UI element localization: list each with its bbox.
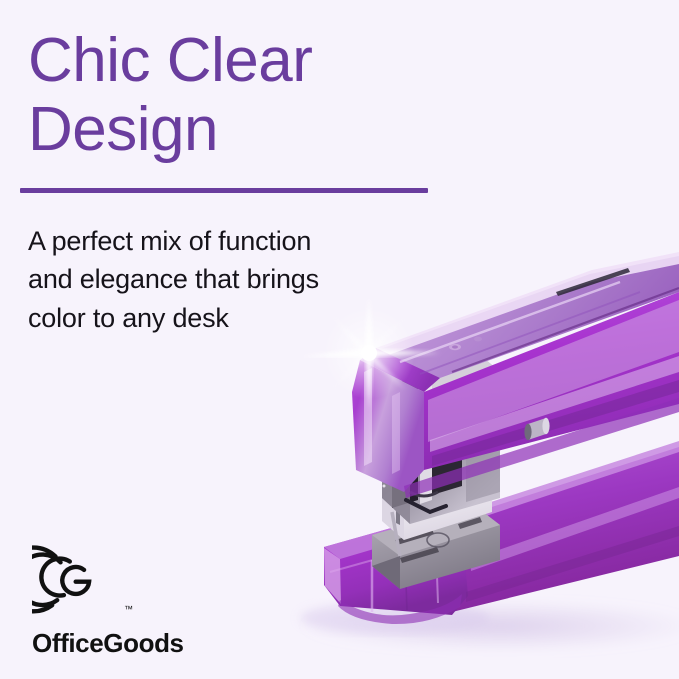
anvil-plate: [372, 505, 500, 589]
product-marketing-image: Chic Clear Design A perfect mix of funct…: [0, 0, 679, 679]
trademark-symbol: ™: [124, 604, 134, 614]
brand-wordmark: OfficeGoods: [32, 628, 232, 659]
page-title: Chic Clear Design: [28, 26, 498, 165]
side-pin: [524, 418, 549, 440]
metal-mechanism: [382, 346, 500, 556]
officegoods-spiral-g-logo-icon: [32, 538, 116, 622]
product-shadow: [300, 600, 679, 652]
stapler-base: [324, 441, 679, 624]
title-divider: [20, 188, 428, 193]
brand-logo: ™ OfficeGoods: [32, 538, 232, 659]
staple-magazine: [382, 452, 492, 540]
subheadline: A perfect mix of function and elegance t…: [28, 222, 408, 337]
